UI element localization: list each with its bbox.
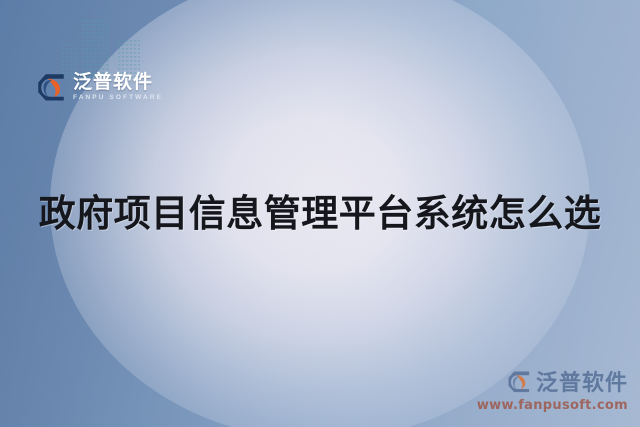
brand-name-en: FANPU SOFTWARE	[73, 95, 163, 102]
watermark-url: www.fanpusoft.com	[477, 398, 628, 413]
page-title: 政府项目信息管理平台系统怎么选	[0, 183, 640, 237]
brand-name-cn: 泛普软件	[73, 73, 163, 92]
pixel-city-pattern-icon	[62, 8, 172, 80]
watermark-name: 泛普软件	[536, 365, 628, 397]
fanpu-watermark-logo-icon	[506, 369, 531, 394]
fanpu-logo-icon	[36, 72, 66, 102]
watermark: 泛普软件 www.fanpusoft.com	[477, 365, 628, 413]
brand-lockup: 泛普软件 FANPU SOFTWARE	[36, 72, 163, 102]
promo-banner: 泛普软件 FANPU SOFTWARE 政府项目信息管理平台系统怎么选 泛普软件…	[0, 0, 640, 427]
